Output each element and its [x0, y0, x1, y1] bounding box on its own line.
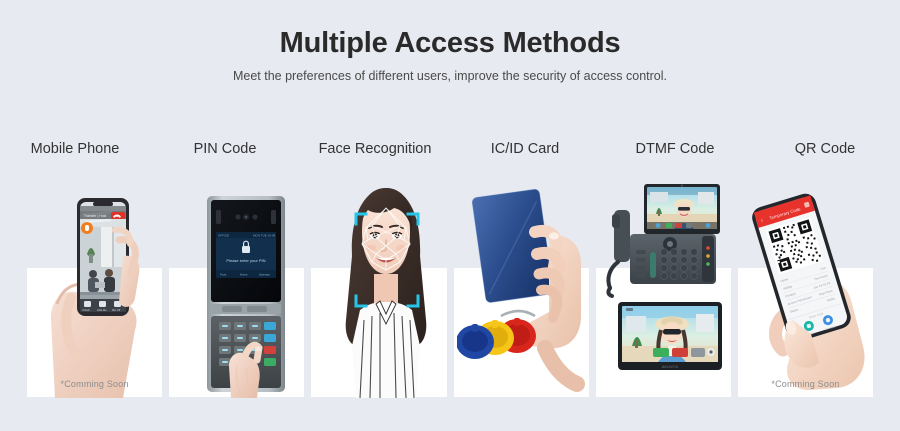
svg-text:MON TUE 10:08: MON TUE 10:08 — [253, 234, 275, 238]
svg-text:‹: ‹ — [760, 218, 764, 224]
coming-soon-note: *Comming Soon — [738, 379, 873, 389]
multiple-access-methods-section: Multiple Access Methods Meet the prefere… — [0, 0, 900, 431]
method-label-text: Face Recognition — [319, 141, 432, 157]
method-label-text: Mobile Phone — [31, 141, 120, 157]
coming-soon-note: *Comming Soon — [27, 379, 162, 389]
method-card-row: *Comming Soon *Comming Soon — [27, 268, 873, 397]
method-label-ic-id-card: IC/ID Card — [450, 140, 600, 162]
method-card-ic-id-card[interactable] — [454, 268, 589, 397]
page-subtitle: Meet the preferences of different users,… — [0, 60, 900, 83]
section-header: Multiple Access Methods Meet the prefere… — [0, 0, 900, 83]
method-label-dtmf-code: DTMF Code — [600, 140, 750, 162]
method-card-mobile-phone[interactable]: *Comming Soon — [27, 268, 162, 397]
method-label-face-recognition: Face Recognition — [300, 140, 450, 162]
method-label-row: Mobile Phone PIN Code Face Recognition I… — [0, 140, 900, 162]
face-mesh-overlay — [362, 208, 410, 270]
method-card-face-recognition[interactable] — [311, 268, 446, 397]
qr-code — [766, 217, 823, 274]
method-label-text: DTMF Code — [636, 141, 715, 157]
method-card-qr-code[interactable]: *Comming Soon — [738, 268, 873, 397]
svg-text:OFFICE: OFFICE — [218, 234, 229, 238]
method-label-text: IC/ID Card — [491, 141, 560, 157]
method-label-text: QR Code — [795, 141, 855, 157]
page-title: Multiple Access Methods — [0, 0, 900, 60]
svg-text:Transfer | Hold: Transfer | Hold — [84, 214, 106, 218]
method-label-pin-code: PIN Code — [150, 140, 300, 162]
method-label-mobile-phone: Mobile Phone — [0, 140, 150, 162]
method-card-dtmf-code[interactable] — [596, 268, 731, 397]
svg-text:Temporary Code: Temporary Code — [769, 206, 802, 220]
method-card-pin-code[interactable] — [169, 268, 304, 397]
method-label-qr-code: QR Code — [750, 140, 900, 162]
lock-icon — [242, 241, 250, 253]
pin-prompt-text: Please enter your PIN — [226, 258, 265, 263]
method-label-text: PIN Code — [194, 141, 257, 157]
